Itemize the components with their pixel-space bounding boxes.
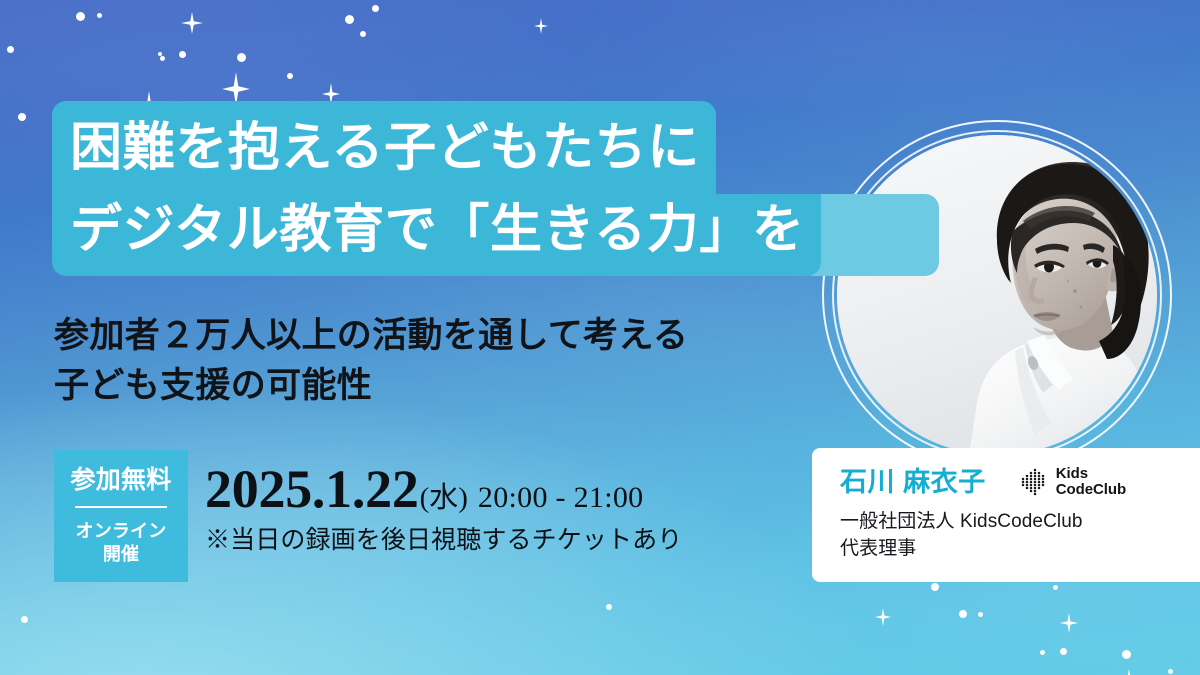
speaker-portrait	[828, 126, 1166, 464]
banner-stage: 困難を抱える子どもたちに デジタル教育で「生きる力」を 参加者２万人以上の活動を…	[0, 0, 1200, 675]
kids-code-club-wordmark: Kids CodeClub	[1056, 466, 1126, 498]
schedule-day-of-week: (水)	[420, 484, 468, 513]
badge-online-label: オンライン 開催	[76, 520, 167, 566]
free-online-badge: 参加無料 オンライン 開催	[54, 450, 188, 582]
schedule-note: ※当日の録画を後日視聴するチケットあり	[205, 528, 682, 553]
headline-line-1: 困難を抱える子どもたちに	[52, 101, 716, 194]
badge-divider	[75, 506, 167, 508]
headline-row-2: デジタル教育で「生きる力」を	[52, 194, 812, 276]
speaker-org-line-1: 一般社団法人 KidsCodeClub	[840, 509, 1200, 535]
badge-online-line-1: オンライン	[76, 520, 167, 543]
schedule-block: 2025.1.22 (水) 20:00 - 21:00 ※当日の録画を後日視聴す…	[205, 462, 682, 553]
kids-code-club-dot-diamond-icon	[1020, 467, 1050, 497]
headline: 困難を抱える子どもたちに デジタル教育で「生きる力」を	[52, 101, 812, 276]
speaker-card-top-row: 石川 麻衣子 Kids	[840, 466, 1200, 498]
speaker-organization: 一般社団法人 KidsCodeClub 代表理事	[840, 509, 1200, 561]
headline-overhang-tail	[811, 194, 939, 276]
logo-text-line-2: CodeClub	[1056, 481, 1126, 498]
headline-row-1: 困難を抱える子どもたちに	[52, 101, 812, 194]
subtitle: 参加者２万人以上の活動を通して考える 子ども支援の可能性	[54, 311, 814, 410]
speaker-card: 石川 麻衣子 Kids	[812, 448, 1200, 582]
kids-code-club-logo: Kids CodeClub	[1020, 466, 1126, 498]
headline-line-2: デジタル教育で「生きる力」を	[52, 194, 821, 276]
schedule-date: 2025.1.22	[205, 462, 419, 516]
logo-text-line-1: Kids	[1056, 465, 1088, 482]
badge-free-label: 参加無料	[70, 468, 171, 493]
speaker-name: 石川 麻衣子	[840, 469, 986, 496]
speaker-org-line-2: 代表理事	[840, 536, 1200, 562]
subtitle-line-1: 参加者２万人以上の活動を通して考える	[54, 311, 814, 361]
subtitle-line-2: 子ども支援の可能性	[54, 361, 814, 411]
schedule-time: 20:00 - 21:00	[478, 483, 644, 513]
badge-online-line-2: 開催	[76, 543, 167, 566]
portrait-image	[837, 135, 1157, 455]
schedule-date-row: 2025.1.22 (水) 20:00 - 21:00	[205, 462, 682, 516]
